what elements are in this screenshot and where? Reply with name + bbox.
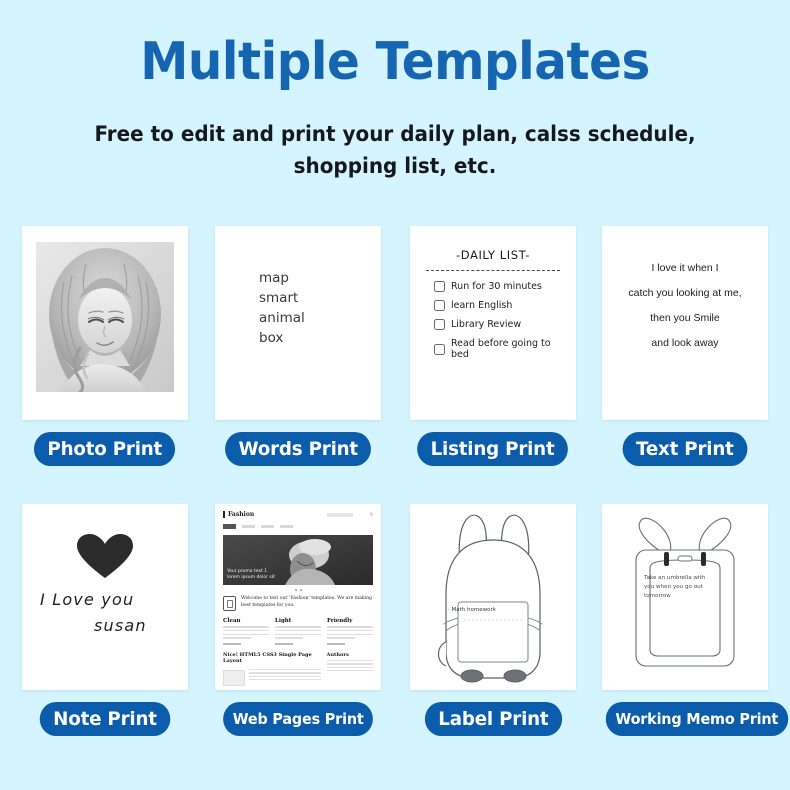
quote-line: and look away — [610, 331, 760, 356]
checklist-item[interactable]: Run for 30 minutes — [434, 281, 562, 292]
web-feature-column: Clean — [223, 618, 269, 645]
note-line-2: susan — [94, 616, 147, 635]
heart-icon — [22, 534, 188, 585]
thumbnail-image — [223, 670, 245, 686]
web-welcome-text: Welcome to test our 'Fashion' templates.… — [241, 596, 373, 609]
web-page-mockup: Fashion ⚲ — [215, 504, 381, 690]
label-print-button[interactable]: Label Print — [424, 702, 561, 736]
note-print-button[interactable]: Note Print — [40, 702, 171, 736]
card-photo-print[interactable] — [22, 226, 188, 420]
read-more-link[interactable] — [275, 643, 293, 645]
text-line — [223, 637, 251, 639]
web-welcome-block: Welcome to test our 'Fashion' templates.… — [223, 596, 373, 611]
web-logo: Fashion — [223, 511, 254, 518]
hero-caption-sub: lorem ipsum dolor sit — [227, 575, 275, 581]
template-cell-web-pages-print: Fashion ⚲ — [215, 504, 381, 736]
text-line — [275, 626, 321, 628]
checkbox-icon[interactable] — [434, 300, 445, 311]
text-line — [327, 626, 373, 628]
read-more-link[interactable] — [327, 643, 345, 645]
memo-text: Take an umbrella with you when you go ou… — [644, 574, 716, 601]
template-cell-note-print: I Love you susan Note Print — [22, 504, 188, 736]
checklist-item[interactable]: learn English — [434, 300, 562, 311]
checkbox-icon[interactable] — [434, 281, 445, 292]
web-footer-left: Nice! HTML5 CSS3 Single Page Layout — [223, 652, 321, 686]
text-line — [275, 630, 321, 632]
search-input[interactable] — [327, 513, 353, 517]
word-item: map — [259, 268, 305, 288]
word-item: animal — [259, 308, 305, 328]
template-cell-words-print: map smart animal box Words Print — [215, 226, 381, 466]
web-feature-title: Friendly — [327, 618, 373, 624]
text-line — [249, 672, 321, 673]
daily-list: -DAILY LIST- Run for 30 minutes learn En… — [424, 248, 562, 368]
card-words-print[interactable]: map smart animal box — [215, 226, 381, 420]
working-memo-print-button[interactable]: Working Memo Print — [606, 702, 788, 736]
hero-caption: Your promo text 1 lorem ipsum dolor sit — [227, 569, 275, 581]
text-line — [223, 626, 269, 628]
web-nav[interactable] — [223, 524, 373, 529]
web-footer: Nice! HTML5 CSS3 Single Page Layout — [223, 652, 373, 686]
badge-icon — [223, 596, 236, 611]
card-listing-print[interactable]: -DAILY LIST- Run for 30 minutes learn En… — [410, 226, 576, 420]
quote-block: I love it when I catch you looking at me… — [610, 256, 760, 356]
web-feature-column: Friendly — [327, 618, 373, 645]
template-cell-label-print: · Math homework Label Print — [410, 504, 576, 736]
text-line — [327, 637, 355, 639]
web-footer-title: Authors — [327, 652, 373, 658]
word-item: smart — [259, 288, 305, 308]
label-note-text: · Math homework — [448, 607, 540, 613]
word-list: map smart animal box — [259, 268, 305, 348]
checklist-item-label: learn English — [451, 300, 512, 311]
carousel-dot[interactable] — [295, 589, 297, 591]
checkbox-icon[interactable] — [434, 344, 445, 355]
photo-print-button[interactable]: Photo Print — [34, 432, 176, 466]
web-topbar: Fashion ⚲ — [223, 511, 373, 518]
nav-item-active[interactable] — [223, 524, 236, 529]
checkbox-icon[interactable] — [434, 319, 445, 330]
carousel-dot[interactable] — [300, 589, 302, 591]
web-footer-title: Nice! HTML5 CSS3 Single Page Layout — [223, 652, 321, 664]
nav-item[interactable] — [242, 525, 255, 528]
template-cell-listing-print: -DAILY LIST- Run for 30 minutes learn En… — [410, 226, 576, 466]
text-line — [249, 676, 321, 677]
web-hero-image: Your promo text 1 lorem ipsum dolor sit — [223, 535, 373, 585]
text-line — [327, 634, 373, 636]
carousel-dots[interactable] — [223, 589, 373, 591]
text-print-button[interactable]: Text Print — [623, 432, 748, 466]
quote-line: then you Smile — [610, 306, 760, 331]
checklist-item[interactable]: Read before going to bed — [434, 338, 562, 360]
checklist-item[interactable]: Library Review — [434, 319, 562, 330]
text-line — [327, 663, 373, 664]
photo-image — [36, 242, 174, 392]
search-icon[interactable]: ⚲ — [369, 512, 373, 518]
text-line — [223, 630, 269, 632]
text-line — [249, 679, 321, 680]
rabbit-icon — [410, 504, 576, 690]
read-more-link[interactable] — [223, 643, 241, 645]
listing-print-button[interactable]: Listing Print — [418, 432, 569, 466]
template-cell-text-print: I love it when I catch you looking at me… — [602, 226, 768, 466]
quote-line: I love it when I — [610, 256, 760, 281]
promo-page: Multiple Templates Free to edit and prin… — [0, 0, 790, 790]
checklist-item-label: Run for 30 minutes — [451, 281, 542, 292]
web-feature-title: Clean — [223, 618, 269, 624]
nav-item[interactable] — [261, 525, 274, 528]
web-footer-right: Authors — [327, 652, 373, 686]
text-line — [275, 634, 321, 636]
card-text-print[interactable]: I love it when I catch you looking at me… — [602, 226, 768, 420]
web-search[interactable]: ⚲ — [327, 512, 373, 518]
text-line — [327, 630, 373, 632]
web-footer-row — [223, 667, 321, 686]
web-feature-column: Light — [275, 618, 321, 645]
text-line — [275, 637, 303, 639]
dashed-divider — [426, 270, 560, 271]
web-pages-print-button[interactable]: Web Pages Print — [223, 702, 373, 736]
card-web-pages-print[interactable]: Fashion ⚲ — [215, 504, 381, 690]
card-working-memo-print[interactable]: Take an umbrella with you when you go ou… — [602, 504, 768, 690]
words-print-button[interactable]: Words Print — [225, 432, 371, 466]
checklist-item-label: Read before going to bed — [451, 338, 562, 360]
text-line — [327, 660, 373, 661]
text-line — [223, 634, 269, 636]
web-feature-columns: Clean Light — [223, 618, 373, 645]
checklist-item-label: Library Review — [451, 319, 521, 330]
web-feature-title: Light — [275, 618, 321, 624]
text-line — [249, 669, 321, 670]
text-line — [327, 670, 373, 671]
quote-line: catch you looking at me, — [610, 281, 760, 306]
note-line-1: I Love you — [40, 590, 134, 609]
card-note-print[interactable]: I Love you susan — [22, 504, 188, 690]
template-cell-photo-print: Photo Print — [22, 226, 188, 466]
template-grid: Photo Print map smart animal box Words P… — [0, 0, 790, 790]
word-item: box — [259, 328, 305, 348]
nav-item[interactable] — [280, 525, 293, 528]
text-line — [327, 667, 373, 668]
template-cell-working-memo-print: Take an umbrella with you when you go ou… — [602, 504, 768, 736]
card-label-print[interactable]: · Math homework — [410, 504, 576, 690]
daily-list-title: -DAILY LIST- — [424, 248, 562, 262]
